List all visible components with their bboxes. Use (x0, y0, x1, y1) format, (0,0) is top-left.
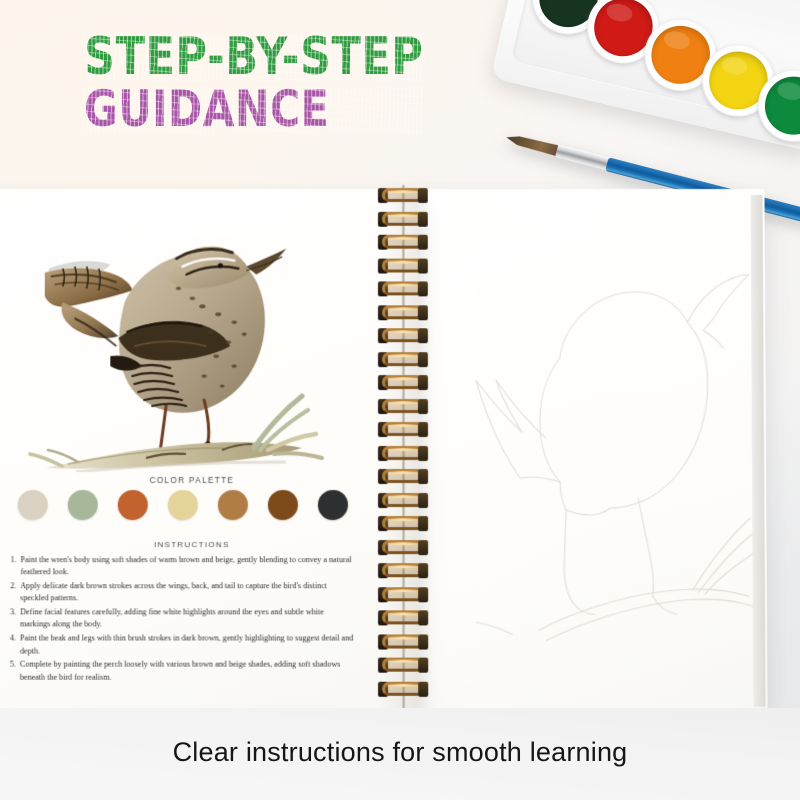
spiral-ring (378, 562, 428, 581)
instruction-text: Apply delicate dark brown strokes across… (20, 580, 356, 605)
spiral-ring (378, 351, 428, 370)
spiral-ring (378, 515, 428, 534)
spiral-ring (378, 257, 428, 276)
tray-inner-well (511, 0, 800, 129)
caption-text: Clear instructions for smooth learning (173, 737, 628, 768)
color-palette-title: COLOR PALETTE (0, 476, 418, 485)
headline-line-2: GUIDANCE (84, 87, 423, 133)
swatch-dark-brown (268, 490, 298, 520)
instruction-item: 4. Paint the beak and legs with thin bru… (5, 633, 356, 658)
spiral-ring (378, 680, 428, 699)
tray-body (491, 0, 800, 152)
instruction-number: 3. (5, 607, 20, 632)
sketchbook-right-page (386, 189, 768, 712)
spiral-ring (378, 586, 428, 605)
product-promo-image: STEP-BY-STEP GUIDANCE (0, 0, 800, 800)
spiral-ring (378, 445, 428, 464)
swatch-cream-beige (18, 490, 48, 520)
instruction-number: 1. (5, 554, 20, 579)
spiral-ring (378, 657, 428, 676)
spiral-ring (378, 374, 428, 393)
spiral-ring (378, 280, 428, 299)
color-palette-swatches (18, 490, 348, 520)
spiral-ring (378, 492, 428, 511)
spiral-ring (378, 633, 428, 652)
swatch-terracotta (118, 490, 148, 520)
spiral-ring (378, 609, 428, 628)
spiral-ring (378, 398, 428, 417)
swatch-tan-brown (218, 490, 248, 520)
instruction-item: 3. Define facial features carefully, add… (5, 607, 356, 632)
instructions-title: INSTRUCTIONS (0, 540, 418, 549)
headline: STEP-BY-STEP GUIDANCE (84, 34, 430, 126)
spiral-ring (378, 468, 428, 487)
headline-line-1: STEP-BY-STEP (84, 34, 423, 82)
swatch-sage-green (68, 490, 98, 520)
instruction-text: Define facial features carefully, adding… (20, 607, 356, 632)
swatch-pale-sand (168, 490, 198, 520)
instruction-item: 2. Apply delicate dark brown strokes acr… (5, 580, 356, 605)
spiral-ring (378, 234, 428, 253)
instruction-text: Complete by painting the perch loosely w… (20, 659, 356, 684)
instruction-text: Paint the beak and legs with thin brush … (20, 633, 356, 658)
spiral-ring (378, 304, 428, 323)
spiral-ring (378, 539, 428, 558)
instruction-item: 5. Complete by painting the perch loosel… (5, 659, 356, 684)
instruction-item: 1. Paint the wren's body using soft shad… (5, 554, 356, 579)
spiral-ring (378, 421, 428, 440)
sketchbook-left-page: COLOR PALETTE INSTRUCTIONS 1. Paint the … (0, 189, 418, 712)
sketchbook: COLOR PALETTE INSTRUCTIONS 1. Paint the … (0, 189, 768, 712)
instruction-number: 5. (5, 659, 20, 684)
instruction-number: 4. (5, 633, 20, 658)
pencil-outline-wren-sketch (442, 231, 773, 651)
spiral-ring (378, 327, 428, 346)
spiral-ring (378, 187, 428, 206)
instruction-text: Paint the wren's body using soft shades … (20, 554, 356, 579)
spiral-binding (376, 179, 432, 722)
instructions-list: 1. Paint the wren's body using soft shad… (5, 554, 356, 685)
spiral-ring (378, 210, 428, 229)
instruction-number: 2. (5, 580, 20, 605)
watercolor-wren-on-branch (6, 211, 336, 472)
swatch-charcoal (318, 490, 348, 520)
caption-band: Clear instructions for smooth learning (0, 708, 800, 800)
